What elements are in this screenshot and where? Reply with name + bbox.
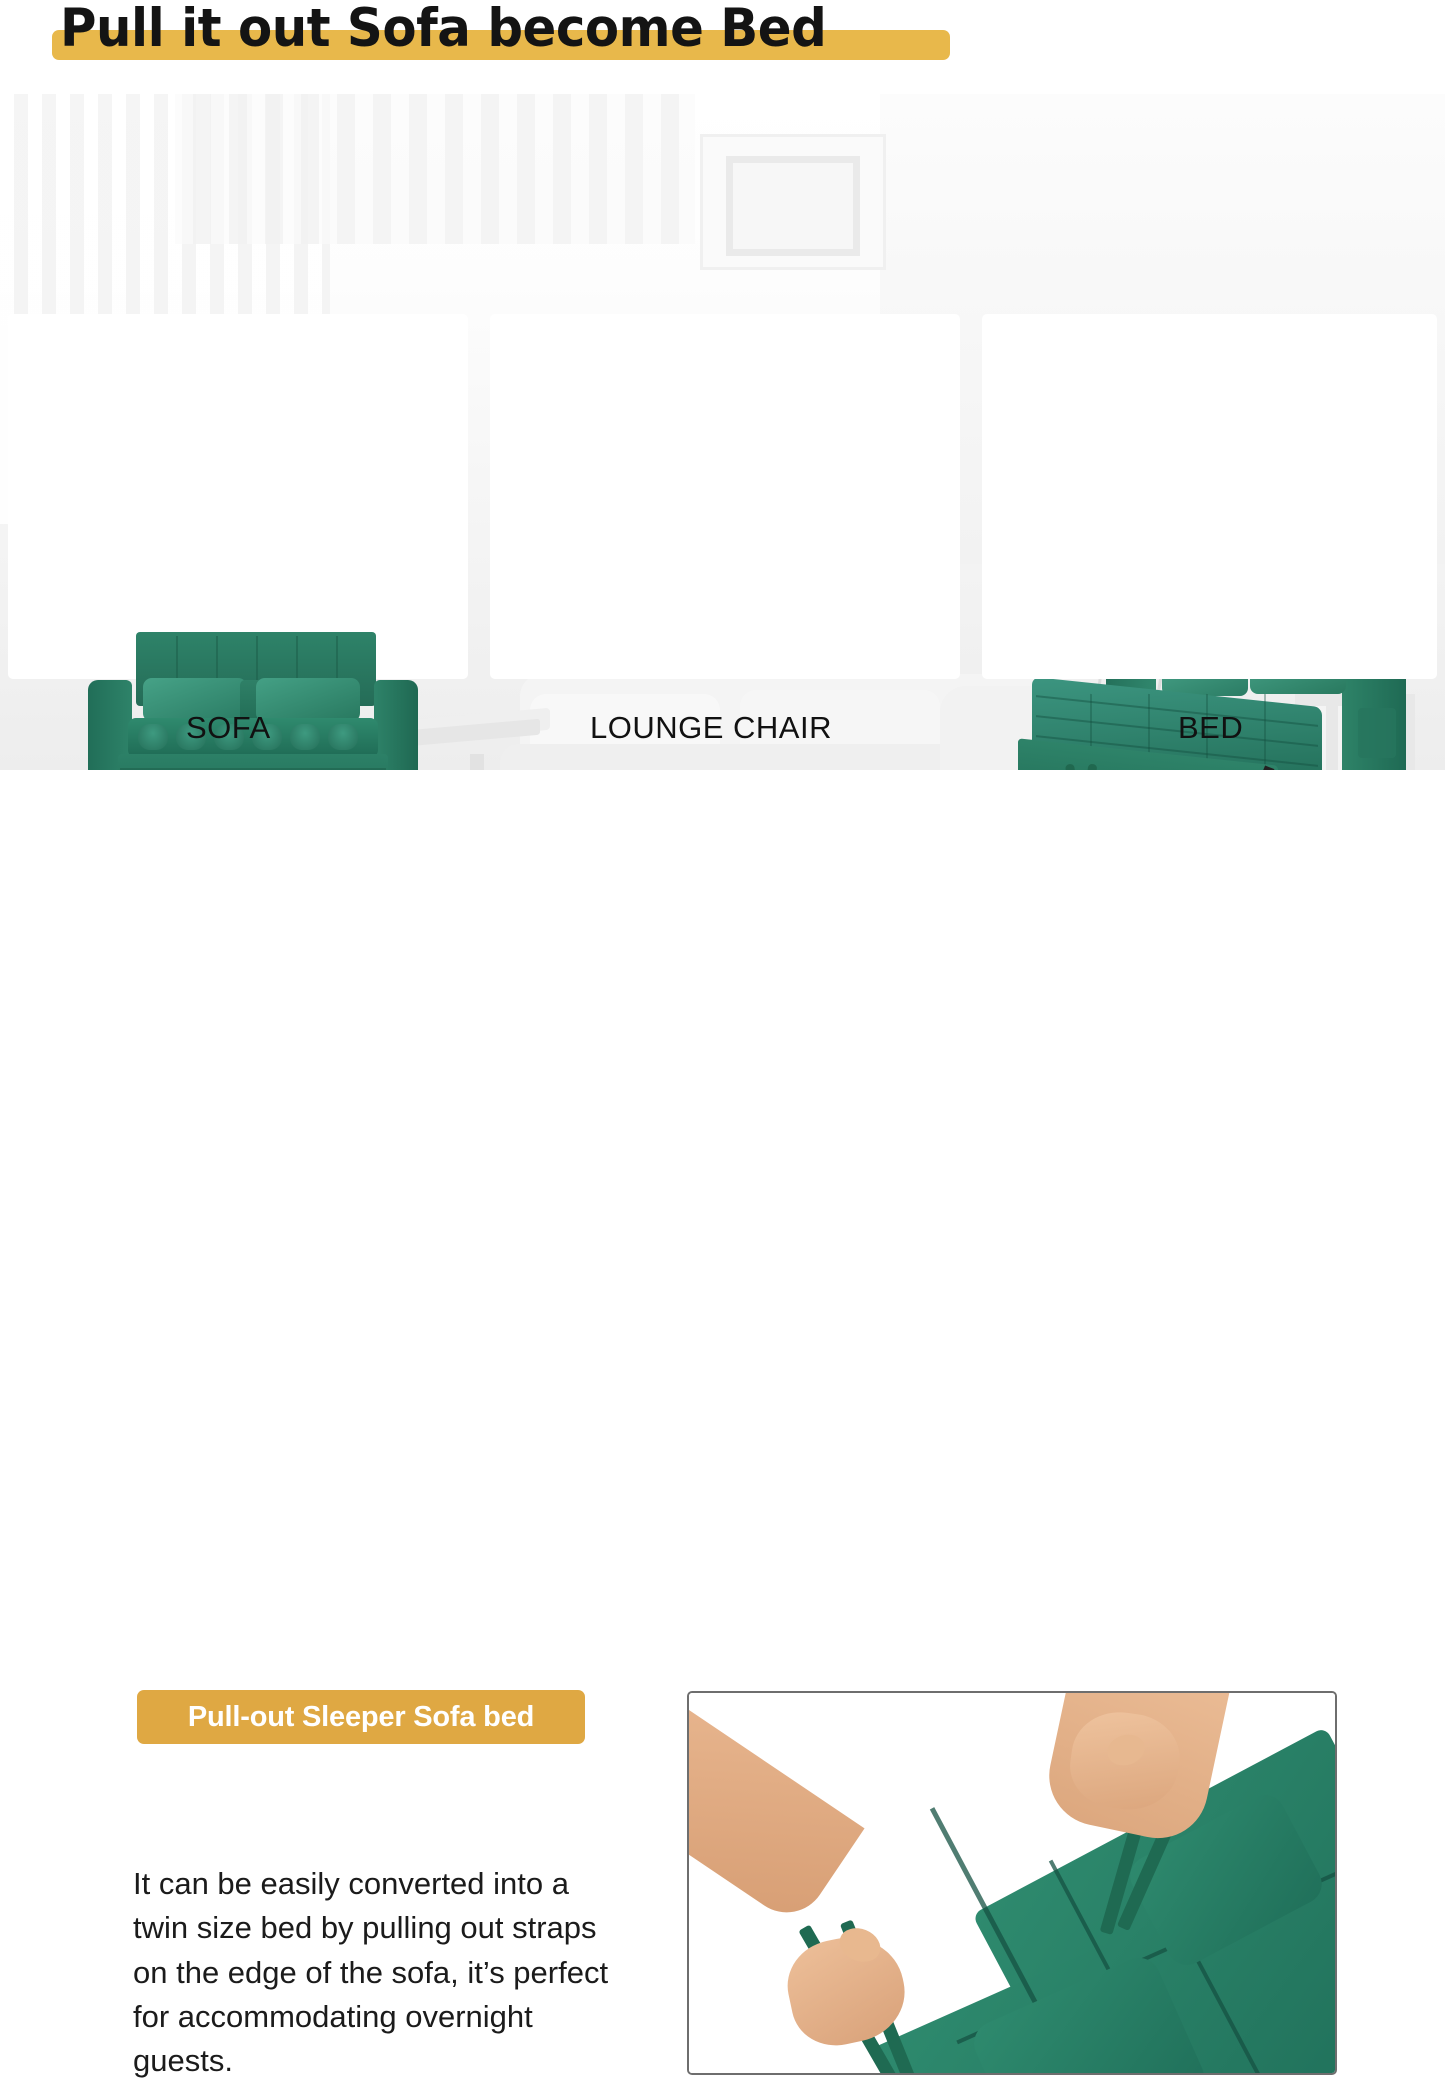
feature-paragraph: It can be easily converted into a twin s… bbox=[133, 1862, 611, 2084]
hero-section: SOFA LOUNGE CHAIR BED bbox=[0, 94, 1445, 770]
strap-demo-photo bbox=[687, 1691, 1337, 2075]
product-card-bed[interactable] bbox=[982, 314, 1437, 679]
feature-badge-label: Pull-out Sleeper Sofa bed bbox=[137, 1690, 585, 1744]
card-label-sofa: SOFA bbox=[186, 710, 271, 746]
card-label-lounge-chair: LOUNGE CHAIR bbox=[590, 710, 832, 746]
product-card-sofa[interactable] bbox=[8, 314, 468, 679]
card-label-bed: BED bbox=[1178, 710, 1243, 746]
page-title: Pull it out Sofa become Bed bbox=[60, 0, 906, 59]
feature-section: Pull-out Sleeper Sofa bed It can be easi… bbox=[0, 770, 1445, 1311]
sofa-illustration bbox=[88, 632, 418, 770]
feature-badge: Pull-out Sleeper Sofa bed bbox=[137, 1690, 585, 1744]
headline-banner: Pull it out Sofa become Bed bbox=[0, 0, 1445, 94]
product-card-lounge-chair[interactable] bbox=[490, 314, 960, 679]
